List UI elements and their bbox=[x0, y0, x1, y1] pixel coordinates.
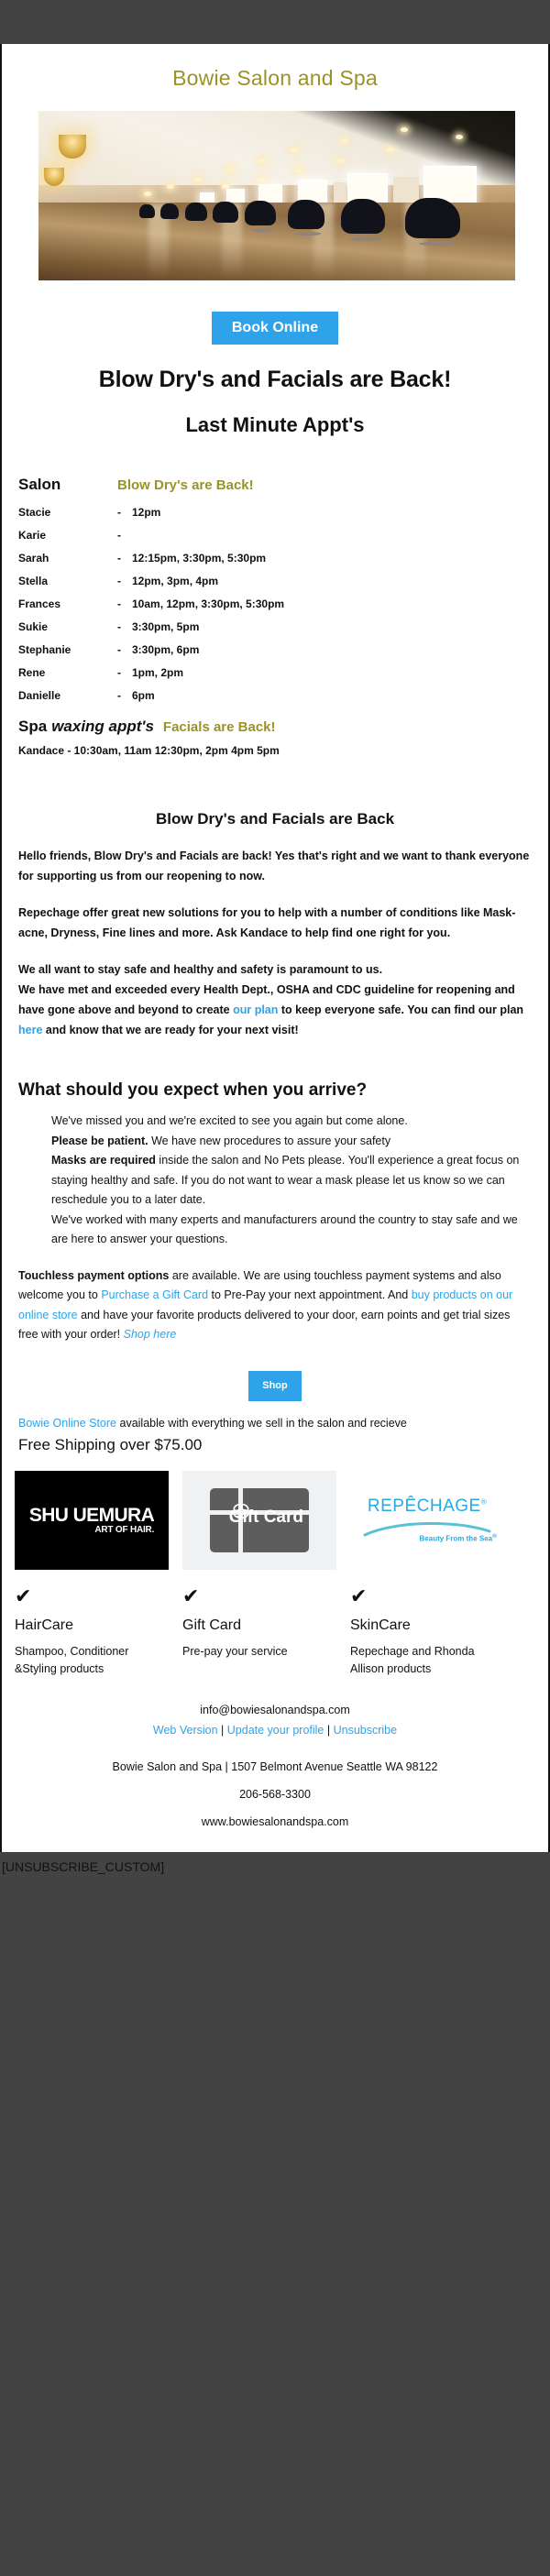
footer-address: Bowie Salon and Spa | 1507 Belmont Avenu… bbox=[18, 1760, 532, 1788]
gift-card-logo[interactable]: Gift Card bbox=[182, 1471, 336, 1570]
stylist-name: Karie bbox=[18, 529, 117, 542]
bottom-gray-bar: [UNSUBSCRIBE_CUSTOM] bbox=[0, 1852, 550, 1937]
stylist-name: Sukie bbox=[18, 620, 117, 633]
row-dash: - bbox=[117, 666, 132, 679]
repechage-tagline: Beauty From the Sea® bbox=[420, 1533, 504, 1543]
downlight-icon bbox=[456, 135, 463, 139]
schedule-row: Danielle-6pm bbox=[18, 689, 532, 712]
product-cell-skincare: ✔ SkinCare Repechage and Rhonda Allison … bbox=[350, 1586, 504, 1679]
product-cell-giftcard: ✔ Gift Card Pre-pay your service bbox=[182, 1586, 336, 1679]
payment-text-3: and have your favorite products delivere… bbox=[18, 1309, 510, 1342]
store-line: Bowie Online Store available with everyt… bbox=[2, 1401, 548, 1432]
row-dash: - bbox=[117, 643, 132, 656]
free-shipping-text: Free Shipping over $75.00 bbox=[2, 1432, 548, 1454]
downlight-icon bbox=[194, 177, 202, 181]
product-title-haircare: HairCare bbox=[15, 1617, 169, 1643]
expect-after-1: We have new procedures to assure your sa… bbox=[148, 1135, 391, 1147]
spa-schedule-row: Kandace - 10:30am, 11am 12:30pm, 2pm 4pm… bbox=[18, 744, 532, 757]
bowie-online-store-link[interactable]: Bowie Online Store bbox=[18, 1417, 116, 1430]
page-title: Bowie Salon and Spa bbox=[2, 44, 548, 111]
body-paragraph-2: Repechage offer great new solutions for … bbox=[18, 904, 532, 960]
here-link[interactable]: here bbox=[18, 1024, 42, 1036]
payment-paragraph: Touchless payment options are available.… bbox=[2, 1250, 548, 1345]
shop-here-link[interactable]: Shop here bbox=[124, 1328, 177, 1341]
gift-card-icon: Gift Card bbox=[210, 1488, 309, 1552]
payment-text-2: to Pre-Pay your next appointment. And bbox=[208, 1288, 412, 1301]
schedule-row: Karie- bbox=[18, 529, 532, 552]
appointment-times: 12pm, 3pm, 4pm bbox=[132, 575, 532, 587]
email-card: Bowie Salon and Spa bbox=[0, 44, 550, 1852]
please-be-patient-bold: Please be patient. bbox=[51, 1135, 148, 1147]
logo-cell-skincare: REPÊCHAGE® Beauty From the Sea® bbox=[350, 1471, 504, 1570]
headline-primary: Blow Dry's and Facials are Back! bbox=[2, 345, 548, 393]
spa-header-row: Spa waxing appt's Facials are Back! bbox=[18, 712, 532, 744]
stylist-name: Stella bbox=[18, 575, 117, 587]
downlight-icon bbox=[387, 148, 394, 152]
row-dash: - bbox=[117, 620, 132, 633]
appointment-times: 1pm, 2pm bbox=[132, 666, 532, 679]
downlight-icon bbox=[144, 192, 151, 196]
schedule-header-row: Salon Blow Dry's are Back! bbox=[18, 476, 532, 506]
chandelier-icon bbox=[59, 135, 86, 159]
shu-uemura-tagline: ART OF HAIR. bbox=[29, 1525, 154, 1535]
shu-uemura-name: SHU UEMURA bbox=[29, 1506, 154, 1525]
appointment-times: 3:30pm, 5pm bbox=[132, 620, 532, 633]
book-online-row: Book Online bbox=[2, 280, 548, 345]
book-online-button[interactable]: Book Online bbox=[212, 312, 338, 345]
expect-heading: What should you expect when you arrive? bbox=[18, 1080, 532, 1112]
downlight-icon bbox=[295, 168, 302, 172]
downlight-icon bbox=[226, 168, 234, 172]
web-version-link[interactable]: Web Version bbox=[153, 1724, 218, 1737]
footer-website: www.bowiesalonandspa.com bbox=[18, 1815, 532, 1852]
downlight-icon bbox=[258, 177, 266, 181]
downlight-icon bbox=[336, 159, 344, 163]
stylist-name: Rene bbox=[18, 666, 117, 679]
link-separator-1: | bbox=[218, 1724, 227, 1737]
schedule-table: Salon Blow Dry's are Back! Stacie-12pmKa… bbox=[2, 437, 548, 757]
salon-chair bbox=[160, 203, 179, 219]
schedule-row: Frances- 10am, 12pm, 3:30pm, 5:30pm bbox=[18, 597, 532, 620]
headline-secondary: Last Minute Appt's bbox=[2, 393, 548, 437]
schedule-col2-header: Blow Dry's are Back! bbox=[117, 477, 254, 493]
footer: info@bowiesalonandspa.com Web Version | … bbox=[2, 1678, 548, 1852]
downlight-icon bbox=[401, 127, 408, 132]
downlight-icon bbox=[167, 184, 174, 189]
stylist-name: Stacie bbox=[18, 506, 117, 519]
spa-label-italic: waxing appt's bbox=[47, 718, 154, 736]
repechage-name: REPÊCHAGE® bbox=[368, 1496, 487, 1517]
product-title-skincare: SkinCare bbox=[350, 1617, 504, 1643]
stylist-name: Frances bbox=[18, 597, 117, 610]
purchase-gift-card-link[interactable]: Purchase a Gift Card bbox=[101, 1288, 208, 1301]
safety-line-1: We all want to stay safe and healthy and… bbox=[18, 963, 382, 976]
salon-chair bbox=[185, 203, 207, 221]
body-section: Blow Dry's and Facials are Back Hello fr… bbox=[2, 757, 548, 1057]
check-icon: ✔ bbox=[350, 1586, 504, 1617]
spa-label: Spa bbox=[18, 718, 47, 736]
downlight-icon bbox=[291, 148, 298, 152]
our-plan-link[interactable]: our plan bbox=[233, 1003, 278, 1016]
expect-line-2: Please be patient. We have new procedure… bbox=[51, 1132, 532, 1152]
appointment-times: 12pm bbox=[132, 506, 532, 519]
schedule-row: Stella-12pm, 3pm, 4pm bbox=[18, 575, 532, 597]
row-dash: - bbox=[117, 552, 132, 565]
email-page: Bowie Salon and Spa bbox=[0, 0, 550, 2576]
chair-base bbox=[295, 232, 321, 236]
safety-text-c: and know that we are ready for your next… bbox=[42, 1024, 298, 1036]
downlight-icon bbox=[258, 159, 266, 163]
row-dash: - bbox=[117, 689, 132, 702]
shop-button-row: Shop bbox=[2, 1345, 548, 1401]
salon-chair bbox=[405, 198, 460, 238]
top-gray-bar bbox=[0, 0, 550, 44]
repechage-logo[interactable]: REPÊCHAGE® Beauty From the Sea® bbox=[350, 1471, 504, 1570]
check-icon: ✔ bbox=[182, 1586, 336, 1617]
touchless-bold: Touchless payment options bbox=[18, 1269, 169, 1282]
logo-cell-haircare: SHU UEMURA ART OF HAIR. bbox=[15, 1471, 169, 1570]
schedule-rows: Stacie-12pmKarie-Sarah-12:15pm, 3:30pm, … bbox=[18, 506, 532, 712]
schedule-row: Stephanie-3:30pm, 6pm bbox=[18, 643, 532, 666]
expect-body: We've missed you and we're excited to se… bbox=[18, 1112, 532, 1250]
schedule-col1-header: Salon bbox=[18, 476, 117, 494]
chair-base bbox=[251, 228, 273, 232]
appointment-times: 6pm bbox=[132, 689, 532, 702]
schedule-row: Rene-1pm, 2pm bbox=[18, 666, 532, 689]
salon-chair bbox=[341, 199, 385, 234]
chair-base bbox=[419, 242, 456, 246]
footer-phone: 206-568-3300 bbox=[18, 1788, 532, 1815]
schedule-row: Stacie-12pm bbox=[18, 506, 532, 529]
shop-button[interactable]: Shop bbox=[248, 1371, 302, 1401]
unsubscribe-token: [UNSUBSCRIBE_CUSTOM] bbox=[2, 1859, 164, 1874]
safety-text-b: to keep everyone safe. You can find our … bbox=[278, 1003, 523, 1016]
schedule-row: Sarah-12:15pm, 3:30pm, 5:30pm bbox=[18, 552, 532, 575]
stylist-name: Stephanie bbox=[18, 643, 117, 656]
expect-line-4: We've worked with many experts and manuf… bbox=[51, 1211, 532, 1250]
product-categories-row: ✔ HairCare Shampoo, Conditioner &Styling… bbox=[2, 1570, 548, 1679]
salon-chair bbox=[245, 201, 276, 225]
product-cell-haircare: ✔ HairCare Shampoo, Conditioner &Styling… bbox=[15, 1586, 169, 1679]
masks-required-bold: Masks are required bbox=[51, 1154, 156, 1167]
spa-accent-label: Facials are Back! bbox=[154, 719, 276, 735]
appointment-times: 12:15pm, 3:30pm, 5:30pm bbox=[132, 552, 532, 565]
store-line-text: available with everything we sell in the… bbox=[116, 1417, 407, 1430]
gift-card-text: Gift Card bbox=[229, 1509, 303, 1526]
logos-row: SHU UEMURA ART OF HAIR. bbox=[2, 1454, 548, 1570]
link-separator-2: | bbox=[324, 1724, 333, 1737]
row-dash: - bbox=[117, 575, 132, 587]
update-profile-link[interactable]: Update your profile bbox=[227, 1724, 324, 1737]
row-dash: - bbox=[117, 529, 132, 542]
expect-line-1: We've missed you and we're excited to se… bbox=[51, 1112, 532, 1132]
footer-email: info@bowiesalonandspa.com bbox=[18, 1704, 532, 1724]
footer-links: Web Version | Update your profile | Unsu… bbox=[18, 1724, 532, 1760]
salon-interior-photo bbox=[38, 111, 515, 280]
downlight-icon bbox=[341, 138, 348, 143]
logo-cell-giftcard: Gift Card bbox=[182, 1471, 336, 1570]
expect-line-3: Masks are required inside the salon and … bbox=[51, 1151, 532, 1211]
product-desc-giftcard: Pre-pay your service bbox=[182, 1643, 336, 1661]
check-icon: ✔ bbox=[15, 1586, 169, 1617]
body-paragraph-1: Hello friends, Blow Dry's and Facials ar… bbox=[18, 847, 532, 904]
stylist-name: Sarah bbox=[18, 552, 117, 565]
chair-base bbox=[350, 237, 381, 241]
body-paragraph-3: We all want to stay safe and healthy and… bbox=[18, 960, 532, 1058]
salon-chair bbox=[288, 200, 324, 229]
row-dash: - bbox=[117, 597, 132, 610]
salon-chair bbox=[213, 202, 238, 223]
appointment-times: 10am, 12pm, 3:30pm, 5:30pm bbox=[132, 597, 532, 610]
repechage-wordmark: REPÊCHAGE bbox=[368, 1496, 481, 1516]
shu-uemura-logo[interactable]: SHU UEMURA ART OF HAIR. bbox=[15, 1471, 169, 1570]
product-desc-haircare: Shampoo, Conditioner &Styling products bbox=[15, 1643, 169, 1679]
body-heading: Blow Dry's and Facials are Back bbox=[18, 810, 532, 847]
row-dash: - bbox=[117, 506, 132, 519]
product-desc-skincare: Repechage and Rhonda Allison products bbox=[350, 1643, 504, 1679]
unsubscribe-link[interactable]: Unsubscribe bbox=[334, 1724, 397, 1737]
product-title-giftcard: Gift Card bbox=[182, 1617, 336, 1643]
appointment-times: 3:30pm, 6pm bbox=[132, 643, 532, 656]
schedule-row: Sukie-3:30pm, 5pm bbox=[18, 620, 532, 643]
hero-wrapper bbox=[2, 111, 548, 280]
expect-section: What should you expect when you arrive? … bbox=[2, 1057, 548, 1250]
stylist-name: Danielle bbox=[18, 689, 117, 702]
salon-chair bbox=[139, 204, 155, 218]
